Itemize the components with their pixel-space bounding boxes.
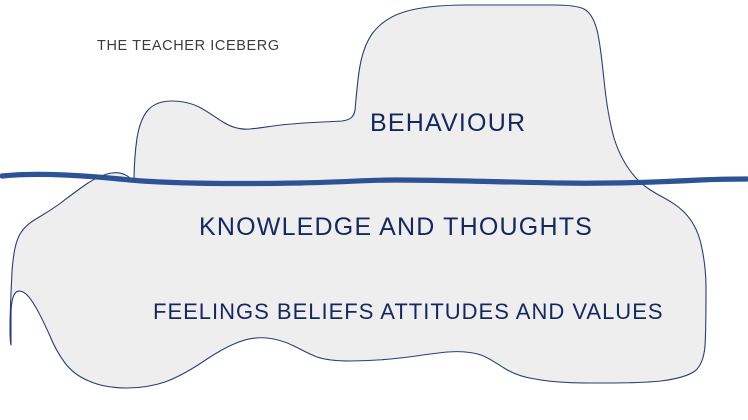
label-knowledge-and-thoughts: KNOWLEDGE AND THOUGHTS [199,213,593,242]
label-behaviour: BEHAVIOUR [370,109,526,138]
label-feelings-beliefs-attitudes-values: FEELINGS BELIEFS ATTITUDES AND VALUES [153,299,664,325]
iceberg-diagram-canvas: THE TEACHER ICEBERG BEHAVIOUR KNOWLEDGE … [0,0,748,420]
iceberg-shape [10,5,706,388]
iceberg-illustration [0,0,748,420]
diagram-title: THE TEACHER ICEBERG [97,38,280,54]
